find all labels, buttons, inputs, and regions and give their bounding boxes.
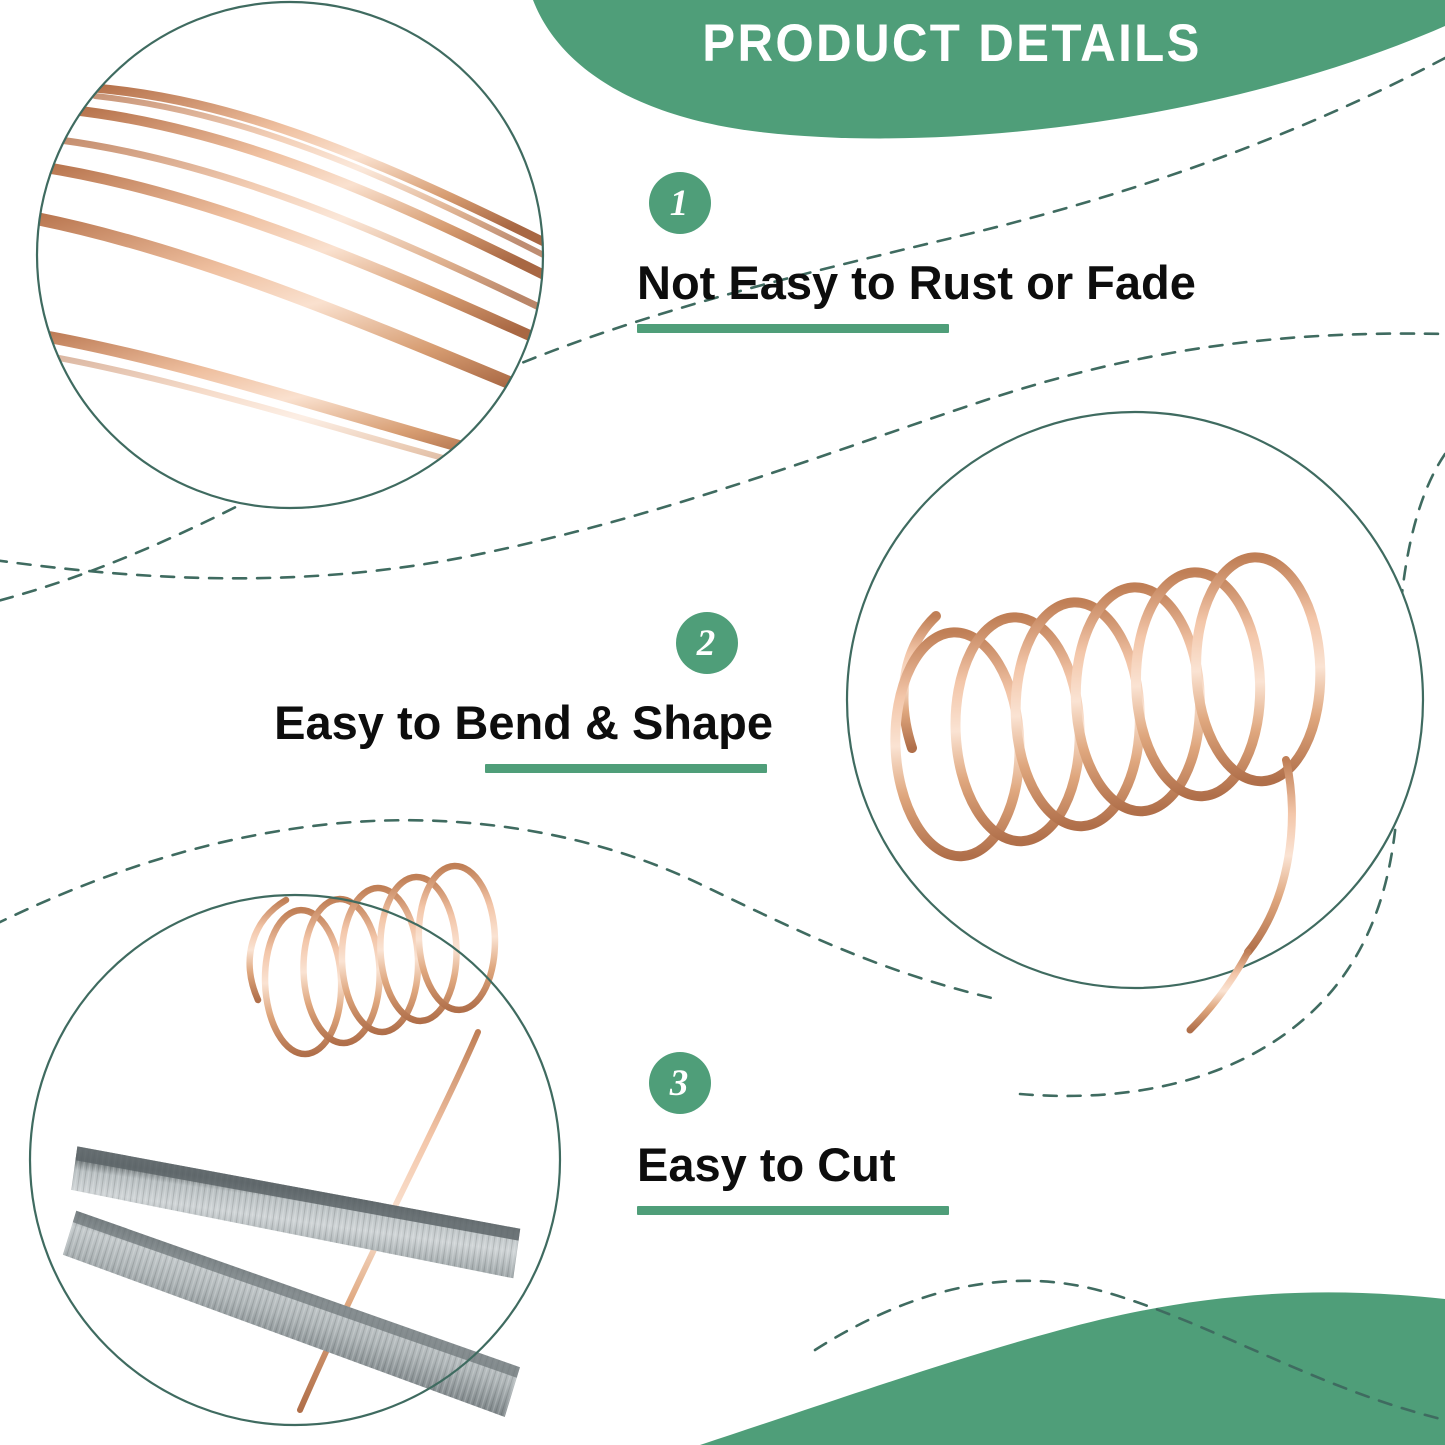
photo-scissors-cut	[30, 847, 560, 1425]
photo-wire-strands	[8, 0, 580, 520]
photo-wire-coil	[846, 412, 1423, 1030]
product-details-infographic: PRODUCT DETAILS 1 Not Easy to Rust or Fa…	[0, 0, 1445, 1445]
product-photos	[0, 0, 1445, 1445]
page-title: PRODUCT DETAILS	[636, 8, 1268, 78]
